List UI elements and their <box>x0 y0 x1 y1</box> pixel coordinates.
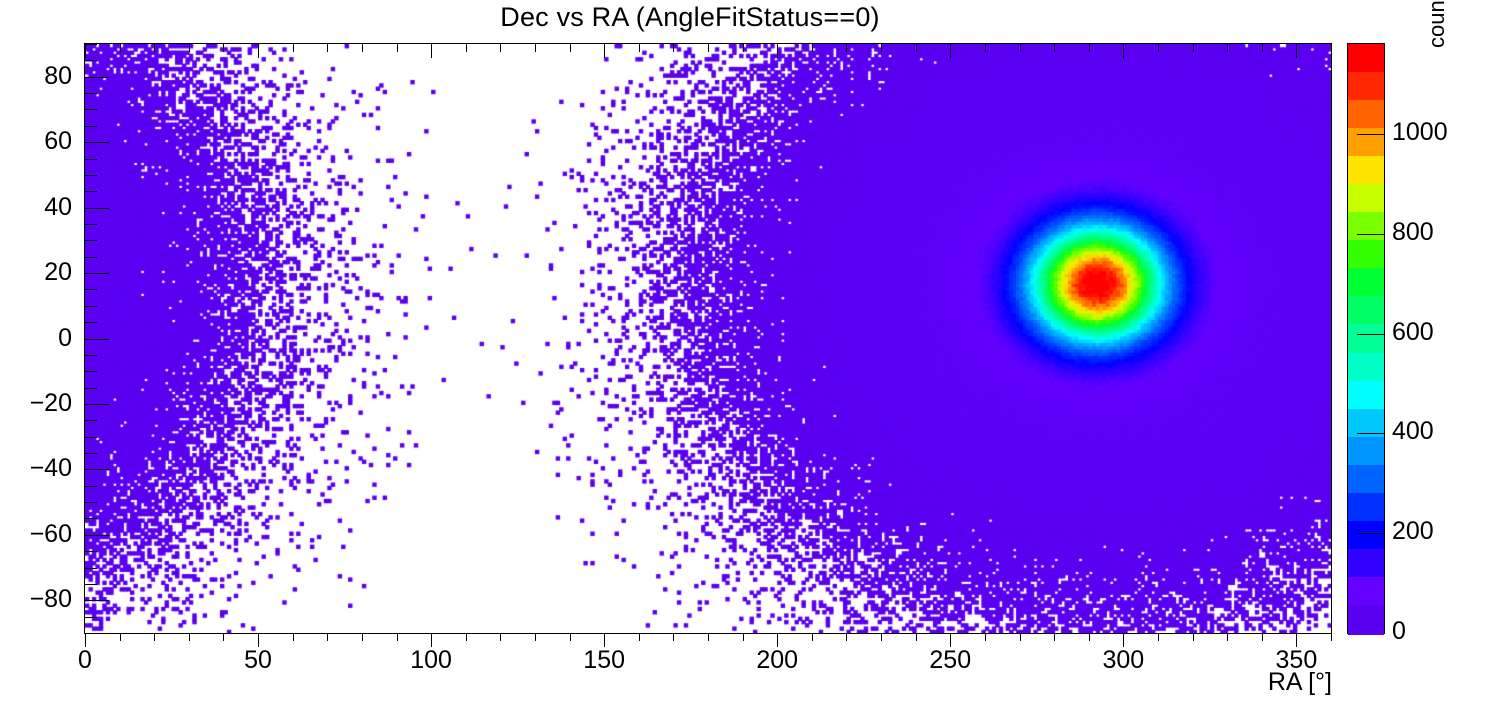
x-axis-title: RA [°] <box>1268 668 1332 697</box>
x-minor-tick <box>327 633 328 641</box>
x-minor-tick <box>639 633 640 641</box>
y-minor-tick <box>85 109 97 110</box>
x-minor-tick <box>846 633 847 641</box>
color-scale-tick <box>1357 334 1385 335</box>
x-minor-tick <box>985 633 986 641</box>
y-tick-label: 40 <box>0 193 72 222</box>
x-minor-tick-top <box>743 44 744 52</box>
y-minor-tick <box>85 44 97 45</box>
y-minor-tick <box>85 355 97 356</box>
x-tick-label: 100 <box>371 646 491 675</box>
x-minor-tick-top <box>466 44 467 52</box>
x-minor-tick <box>916 633 917 641</box>
y-major-tick <box>85 142 109 143</box>
x-minor-tick <box>466 633 467 641</box>
x-minor-tick <box>397 633 398 641</box>
color-scale-band <box>1348 296 1384 326</box>
x-major-tick-top <box>1296 44 1297 58</box>
color-scale-tick <box>1357 533 1385 534</box>
x-minor-tick <box>743 633 744 641</box>
x-minor-tick <box>1331 633 1332 641</box>
x-major-tick <box>604 633 605 647</box>
x-major-tick-top <box>85 44 86 58</box>
x-minor-tick <box>1054 633 1055 641</box>
x-minor-tick <box>120 633 121 641</box>
x-minor-tick-top <box>293 44 294 52</box>
color-scale-band <box>1348 44 1384 74</box>
x-minor-tick <box>154 633 155 641</box>
x-minor-tick-top <box>500 44 501 52</box>
x-major-tick-top <box>604 44 605 58</box>
color-scale-band <box>1348 324 1384 354</box>
x-minor-tick-top <box>812 44 813 52</box>
color-scale-band <box>1348 212 1384 242</box>
y-major-tick <box>85 404 109 405</box>
x-major-tick-top <box>431 44 432 58</box>
color-scale-bar <box>1347 43 1385 634</box>
color-scale-title: count <box>1424 0 1450 48</box>
color-scale-band <box>1348 521 1384 551</box>
plot-frame <box>84 43 1332 634</box>
y-minor-tick <box>85 289 97 290</box>
x-minor-tick <box>500 633 501 641</box>
x-tick-label: 300 <box>1063 646 1183 675</box>
y-minor-tick <box>85 453 97 454</box>
y-minor-tick <box>85 420 97 421</box>
x-major-tick <box>85 633 86 647</box>
color-scale-band <box>1348 184 1384 214</box>
x-major-tick-top <box>777 44 778 58</box>
x-minor-tick-top <box>639 44 640 52</box>
y-minor-tick <box>85 502 97 503</box>
color-scale-tick-label: 800 <box>1392 218 1434 247</box>
x-major-tick <box>1296 633 1297 647</box>
color-scale-tick-label: 1000 <box>1392 118 1448 147</box>
x-minor-tick-top <box>985 44 986 52</box>
x-minor-tick-top <box>189 44 190 52</box>
color-scale-band <box>1348 353 1384 383</box>
x-minor-tick-top <box>881 44 882 52</box>
x-minor-tick-top <box>1020 44 1021 52</box>
y-minor-tick <box>85 93 97 94</box>
y-minor-tick <box>85 322 97 323</box>
x-major-tick-top <box>258 44 259 58</box>
color-scale-tick-label: 400 <box>1392 417 1434 446</box>
y-tick-label: −40 <box>0 454 72 483</box>
x-minor-tick-top <box>708 44 709 52</box>
color-scale-band <box>1348 549 1384 579</box>
x-tick-label: 150 <box>544 646 664 675</box>
color-scale-tick-label: 600 <box>1392 318 1434 347</box>
y-tick-label: −80 <box>0 585 72 614</box>
color-scale-band <box>1348 465 1384 495</box>
x-minor-tick <box>1020 633 1021 641</box>
x-minor-tick-top <box>570 44 571 52</box>
color-scale-band <box>1348 381 1384 411</box>
y-minor-tick <box>85 257 97 258</box>
color-scale-band <box>1348 240 1384 270</box>
y-minor-tick <box>85 126 97 127</box>
chart-root: Dec vs RA (AngleFitStatus==0) 0501001502… <box>0 0 1496 722</box>
x-minor-tick <box>1158 633 1159 641</box>
x-tick-label: 200 <box>717 646 837 675</box>
color-scale-band <box>1348 72 1384 102</box>
x-minor-tick-top <box>1054 44 1055 52</box>
x-tick-label: 50 <box>198 646 318 675</box>
color-scale-tick <box>1357 134 1385 135</box>
x-minor-tick-top <box>120 44 121 52</box>
y-minor-tick <box>85 175 97 176</box>
x-minor-tick-top <box>1262 44 1263 52</box>
y-minor-tick <box>85 437 97 438</box>
y-tick-label: 20 <box>0 258 72 287</box>
x-minor-tick <box>570 633 571 641</box>
y-minor-tick <box>85 224 97 225</box>
y-tick-label: 0 <box>0 324 72 353</box>
y-major-tick <box>85 208 109 209</box>
color-scale-tick <box>1357 433 1385 434</box>
color-scale-tick-label: 200 <box>1392 517 1434 546</box>
y-minor-tick <box>85 191 97 192</box>
x-major-tick <box>431 633 432 647</box>
color-scale-band <box>1348 156 1384 186</box>
x-tick-label: 250 <box>890 646 1010 675</box>
x-major-tick <box>777 633 778 647</box>
x-minor-tick-top <box>1158 44 1159 52</box>
x-minor-tick <box>293 633 294 641</box>
y-minor-tick <box>85 568 97 569</box>
x-minor-tick <box>1262 633 1263 641</box>
x-minor-tick <box>812 633 813 641</box>
x-minor-tick <box>1089 633 1090 641</box>
color-scale-band <box>1348 128 1384 158</box>
chart-title: Dec vs RA (AngleFitStatus==0) <box>0 2 1380 33</box>
x-minor-tick-top <box>1227 44 1228 52</box>
y-minor-tick <box>85 159 97 160</box>
x-minor-tick <box>673 633 674 641</box>
x-minor-tick-top <box>397 44 398 52</box>
x-minor-tick-top <box>327 44 328 52</box>
y-major-tick <box>85 339 109 340</box>
y-minor-tick <box>85 60 97 61</box>
x-minor-tick <box>1193 633 1194 641</box>
y-minor-tick <box>85 388 97 389</box>
x-minor-tick-top <box>1193 44 1194 52</box>
y-tick-label: 60 <box>0 127 72 156</box>
x-major-tick-top <box>950 44 951 58</box>
y-minor-tick <box>85 306 97 307</box>
y-minor-tick <box>85 551 97 552</box>
y-major-tick <box>85 273 109 274</box>
y-tick-label: −60 <box>0 520 72 549</box>
y-minor-tick <box>85 240 97 241</box>
y-minor-tick <box>85 371 97 372</box>
x-minor-tick-top <box>916 44 917 52</box>
color-scale-band <box>1348 577 1384 607</box>
x-major-tick <box>258 633 259 647</box>
x-major-tick <box>1123 633 1124 647</box>
x-minor-tick <box>1227 633 1228 641</box>
y-minor-tick <box>85 518 97 519</box>
y-minor-tick <box>85 633 97 634</box>
x-minor-tick-top <box>846 44 847 52</box>
x-minor-tick <box>362 633 363 641</box>
y-minor-tick <box>85 584 97 585</box>
y-major-tick <box>85 469 109 470</box>
x-minor-tick-top <box>362 44 363 52</box>
x-minor-tick-top <box>1089 44 1090 52</box>
y-major-tick <box>85 600 109 601</box>
y-major-tick <box>85 77 109 78</box>
color-scale-band <box>1348 493 1384 523</box>
x-minor-tick-top <box>535 44 536 52</box>
x-minor-tick <box>535 633 536 641</box>
y-tick-label: −20 <box>0 389 72 418</box>
x-minor-tick-top <box>154 44 155 52</box>
x-minor-tick <box>881 633 882 641</box>
heatmap-canvas <box>85 44 1331 633</box>
x-major-tick <box>950 633 951 647</box>
y-tick-label: 80 <box>0 62 72 91</box>
color-scale-band <box>1348 437 1384 467</box>
x-minor-tick-top <box>673 44 674 52</box>
x-minor-tick-top <box>223 44 224 52</box>
x-minor-tick <box>189 633 190 641</box>
y-minor-tick <box>85 486 97 487</box>
color-scale-tick-label: 0 <box>1392 617 1406 646</box>
x-minor-tick <box>223 633 224 641</box>
y-major-tick <box>85 535 109 536</box>
x-minor-tick-top <box>1331 44 1332 52</box>
x-tick-label: 0 <box>25 646 145 675</box>
x-minor-tick <box>708 633 709 641</box>
color-scale-band <box>1348 100 1384 130</box>
y-minor-tick <box>85 617 97 618</box>
color-scale-band <box>1348 605 1384 635</box>
color-scale-band <box>1348 268 1384 298</box>
color-scale-tick <box>1357 234 1385 235</box>
x-major-tick-top <box>1123 44 1124 58</box>
